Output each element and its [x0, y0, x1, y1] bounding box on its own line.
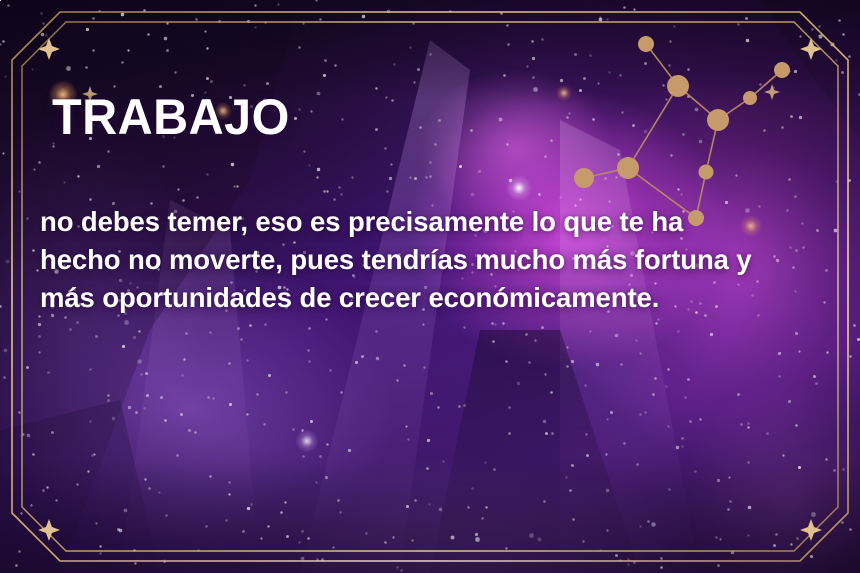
- horoscope-card: TRABAJO no debes temer, eso es precisame…: [0, 0, 860, 573]
- prediction-text: no debes temer, eso es precisamente lo q…: [40, 203, 820, 317]
- card-text-content: TRABAJO no debes temer, eso es precisame…: [0, 0, 860, 573]
- prediction-line: no debes temer, eso es precisamente lo q…: [40, 203, 820, 241]
- prediction-line: hecho no moverte, pues tendrías mucho má…: [40, 241, 820, 279]
- prediction-line: más oportunidades de crecer económicamen…: [40, 279, 820, 317]
- page-title: TRABAJO: [52, 92, 290, 142]
